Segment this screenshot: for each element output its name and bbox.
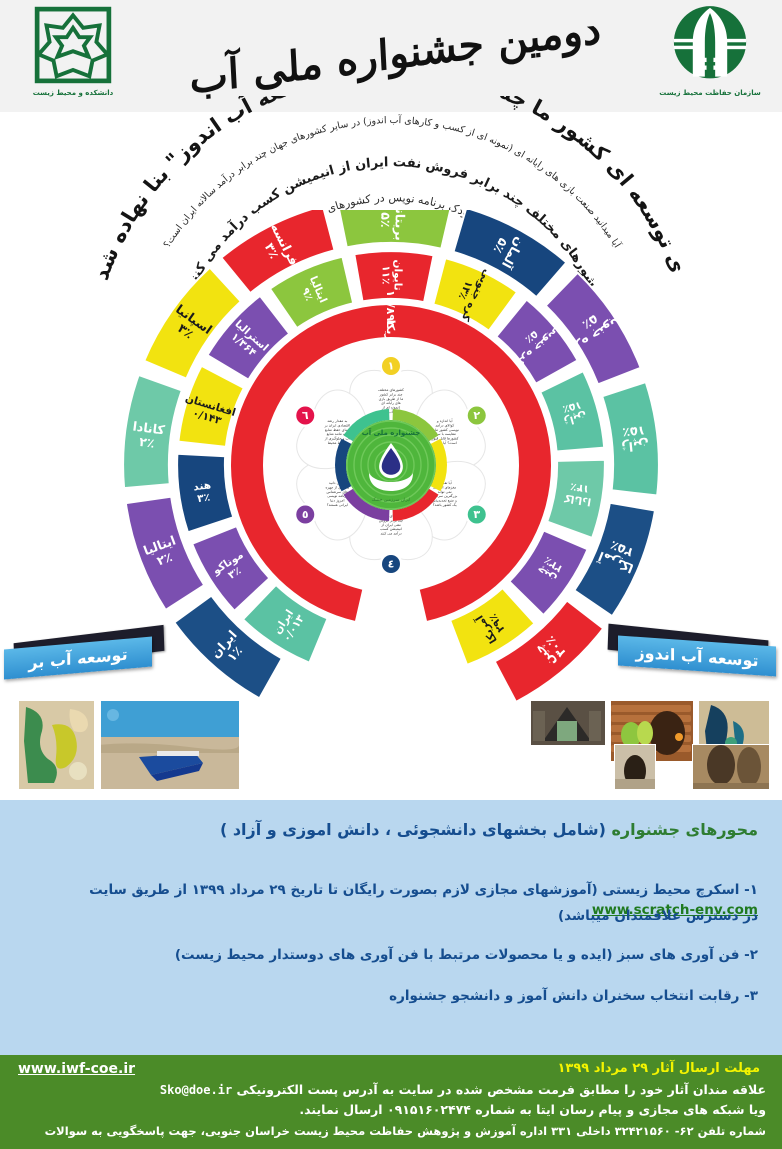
emblem-subtitle: ایران سرزمین خشک xyxy=(372,497,411,503)
page-title: دومین جشنواره ملی آب xyxy=(180,4,610,104)
petal-number: ۲ xyxy=(473,409,480,422)
ab-anbar-photo xyxy=(530,700,606,746)
topic-3-number: ۳- xyxy=(744,988,758,1004)
topic-1-continuation: در دسترس علاقمندان میباشد) xyxy=(558,906,758,926)
emblem-title: جشنواره ملی آب xyxy=(362,428,421,437)
footer-line-1-text: علاقه مندان آثار خود را مطابق فرمت مشخص … xyxy=(237,1082,766,1097)
page-title-text: دومین جشنواره ملی آب xyxy=(188,5,602,104)
topics-heading-green: محورهای جشنواره xyxy=(611,820,758,839)
footer-line-2: ویا شبکه های مجازی و پیام رسان ایتا به ش… xyxy=(16,1101,766,1119)
footer-line-1: علاقه مندان آثار خود را مطابق فرمت مشخص … xyxy=(16,1081,766,1099)
topics-heading-blue: (شامل بخشهای دانشجوئی ، دانش اموزی و آزا… xyxy=(220,820,606,839)
footer-line-3: شماره تلفن ۶۲- ۳۲۴۲۱۵۶۰ داخلی ۳۳۱ اداره … xyxy=(16,1123,766,1140)
photos-water-saving xyxy=(530,700,770,788)
petal-number: ٦ xyxy=(302,409,309,422)
doe-organization-logo: سازمان حفاظت محیط زیست xyxy=(650,4,770,110)
poster-root: دانشکده و محیط زیست دومین جشنواره ملی آب… xyxy=(0,0,782,1149)
satellite-salt-lake-photo xyxy=(18,700,95,790)
petal-number: ۳ xyxy=(473,508,480,521)
donut-segment-label: ژاپن۱۵٪ xyxy=(620,423,650,455)
banner-right-label: توسعه آب اندوز xyxy=(635,642,758,670)
footer-line-2-text: ویا شبکه های مجازی و پیام رسان ایتا به ش… xyxy=(475,1102,766,1117)
submission-deadline: مهلت ارسال آثار ۲۹ مرداد ۱۳۹۹ xyxy=(558,1061,761,1076)
dried-lake-boat-photo xyxy=(100,700,240,790)
petal-number: ۱ xyxy=(388,360,395,373)
topic-1-text: اسکرچ محیط زیستی (آموزشهای مجازی لازم بص… xyxy=(89,882,739,898)
iwf-coe-link[interactable]: www.iwf-coe.ir xyxy=(18,1061,135,1077)
octagram-star-icon xyxy=(34,6,112,84)
doe-emblem-icon xyxy=(667,4,753,84)
petal-number: ٤ xyxy=(388,558,395,571)
topic-item-3: ۳- رقابت انتخاب سخنران دانش آموز و دانشج… xyxy=(389,986,758,1006)
poster-footer: www.iwf-coe.ir مهلت ارسال آثار ۲۹ مرداد … xyxy=(0,1055,782,1149)
topic-2-text: فن آوری های سبز (ایده و یا محصولات مرتبط… xyxy=(175,947,740,963)
cistern-interior-photo xyxy=(614,744,656,790)
footer-line-2-tail: ارسال نمایند. xyxy=(299,1102,382,1117)
watermill-photo xyxy=(692,744,770,790)
banner-left-label: توسعه آب بر xyxy=(28,644,127,672)
contact-phone: ۰۹۱۵۱۶۰۲۴۷۴ xyxy=(387,1102,471,1117)
donut-segment-label: آمریکا۱۶/۸۹۳ xyxy=(384,290,398,352)
topic-2-number: ۲- xyxy=(744,947,758,963)
topics-heading: محورهای جشنواره (شامل بخشهای دانشجوئی ، … xyxy=(220,820,758,839)
petal-number: ٥ xyxy=(302,508,309,521)
center-emblem: جشنواره ملی آبایران سرزمین خشک xyxy=(335,409,447,521)
topic-3-text: رقابت انتخاب سخنران دانش آموز و دانشجو ج… xyxy=(389,988,739,1004)
festival-topics-section: محورهای جشنواره (شامل بخشهای دانشجوئی ، … xyxy=(0,800,782,1055)
photos-water-consuming xyxy=(18,700,240,788)
contact-email[interactable]: Sko@doe.ir xyxy=(160,1082,232,1099)
topic-item-2: ۲- فن آوری های سبز (ایده و یا محصولات مر… xyxy=(175,945,758,965)
topic-1-number: ۱- xyxy=(744,882,758,898)
university-environment-logo: دانشکده و محیط زیست xyxy=(18,6,128,110)
